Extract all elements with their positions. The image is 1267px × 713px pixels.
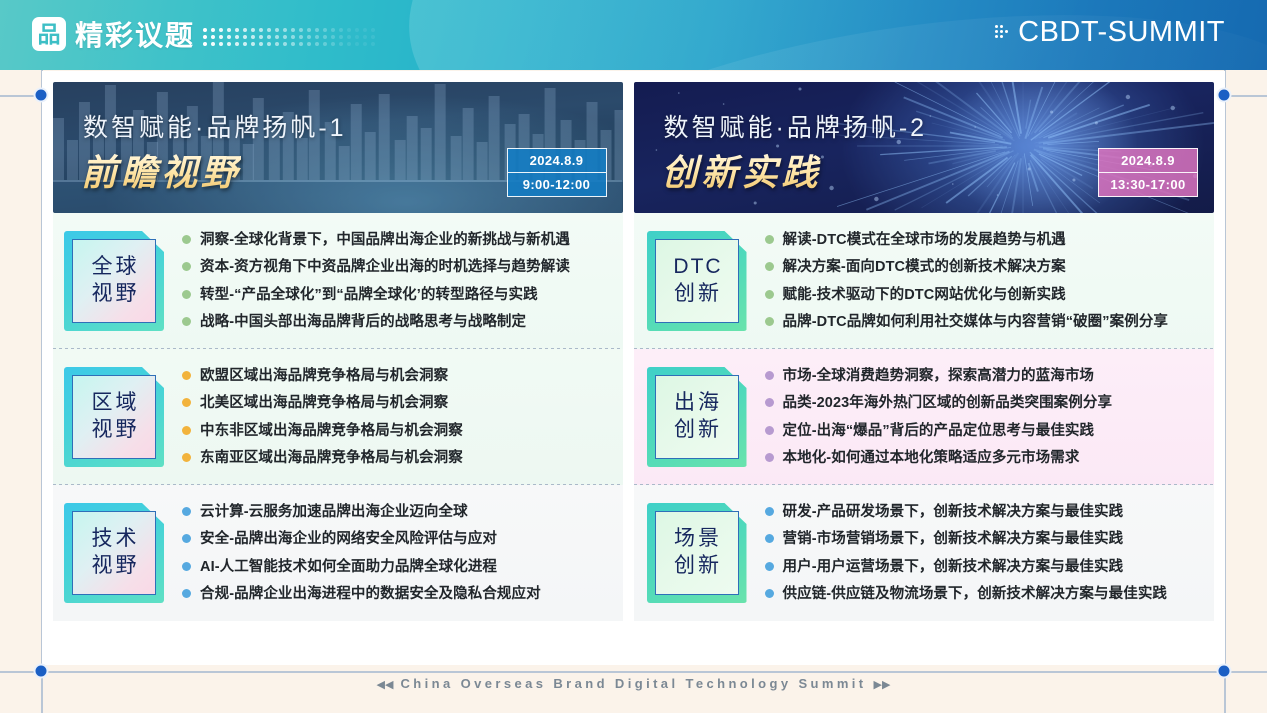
topic-list-item[interactable]: 解决方案-面向DTC模式的创新技术解决方案 bbox=[765, 258, 1205, 276]
topic-category-tile: 全球视野 bbox=[64, 231, 164, 331]
selection-handle-bottom-right[interactable] bbox=[1217, 664, 1232, 679]
topic-label: 东南亚区域出海品牌竞争格局与机会洞察 bbox=[200, 449, 463, 467]
topic-label: 市场-全球消费趋势洞察，探索高潜力的蓝海市场 bbox=[783, 367, 1095, 385]
bullet-icon bbox=[182, 262, 191, 271]
bullet-icon bbox=[182, 507, 191, 516]
topic-list-item[interactable]: 本地化-如何通过本地化策略适应多元市场需求 bbox=[765, 449, 1205, 467]
footer-right-caret-icon: ▶▶ bbox=[874, 679, 891, 691]
tile-inner-panel: 场景创新 bbox=[655, 511, 739, 595]
bullet-icon bbox=[765, 371, 774, 380]
topic-section[interactable]: 区域视野欧盟区域出海品牌竞争格局与机会洞察北美区域出海品牌竞争格局与机会洞察中东… bbox=[53, 349, 623, 485]
topic-list: 洞察-全球化背景下，中国品牌出海企业的新挑战与新机遇资本-资方视角下中资品牌企业… bbox=[182, 231, 623, 331]
bullet-icon bbox=[765, 453, 774, 462]
topic-list-item[interactable]: 战略-中国头部出海品牌背后的战略思考与战略制定 bbox=[182, 313, 613, 331]
tile-label-line2: 视野 bbox=[89, 554, 140, 579]
footer-bar: ◀◀ China Overseas Brand Digital Technolo… bbox=[0, 676, 1267, 691]
tile-inner-panel: DTC创新 bbox=[655, 239, 739, 323]
dot-grid-decoration-icon bbox=[203, 22, 375, 46]
bullet-icon bbox=[182, 371, 191, 380]
tile-label-line1: 出海 bbox=[671, 391, 722, 416]
topic-category-tile: 区域视野 bbox=[64, 367, 164, 467]
topic-list: 云计算-云服务加速品牌出海企业迈向全球安全-品牌出海企业的网络安全风险评估与应对… bbox=[182, 503, 623, 603]
dot-grid-row bbox=[203, 28, 375, 32]
topic-list: 欧盟区域出海品牌竞争格局与机会洞察北美区域出海品牌竞争格局与机会洞察中东非区域出… bbox=[182, 367, 623, 467]
bullet-icon bbox=[765, 398, 774, 407]
topic-list-item[interactable]: 北美区域出海品牌竞争格局与机会洞察 bbox=[182, 394, 613, 412]
topic-list: 解读-DTC模式在全球市场的发展趋势与机遇解决方案-面向DTC模式的创新技术解决… bbox=[765, 231, 1215, 331]
bullet-icon bbox=[765, 262, 774, 271]
bullet-icon bbox=[765, 589, 774, 598]
tile-inner-panel: 技术视野 bbox=[72, 511, 156, 595]
footer-text: China Overseas Brand Digital Technology … bbox=[400, 676, 866, 691]
topic-category-tile: 场景创新 bbox=[647, 503, 747, 603]
topic-list-item[interactable]: 资本-资方视角下中资品牌企业出海的时机选择与趋势解读 bbox=[182, 258, 613, 276]
tile-label-line2: 创新 bbox=[671, 418, 722, 443]
topic-label: 品牌-DTC品牌如何利用社交媒体与内容营销“破圈”案例分享 bbox=[783, 313, 1169, 331]
topic-list-item[interactable]: 品类-2023年海外热门区域的创新品类突围案例分享 bbox=[765, 394, 1205, 412]
topic-list-item[interactable]: 中东非区域出海品牌竞争格局与机会洞察 bbox=[182, 422, 613, 440]
topic-label: 供应链-供应链及物流场景下，创新技术解决方案与最佳实践 bbox=[783, 585, 1168, 603]
bullet-icon bbox=[182, 398, 191, 407]
topic-section[interactable]: 场景创新研发-产品研发场景下，创新技术解决方案与最佳实践营销-市场营销场景下，创… bbox=[634, 485, 1215, 621]
agenda-column-1: 数智赋能·品牌扬帆-1前瞻视野2024.8.99:00-12:00全球视野洞察-… bbox=[42, 71, 634, 665]
bullet-icon bbox=[182, 453, 191, 462]
session-date: 2024.8.9 bbox=[1099, 149, 1197, 173]
bullet-icon bbox=[182, 562, 191, 571]
session-time: 13:30-17:00 bbox=[1099, 173, 1197, 196]
banner-title: 前瞻视野 bbox=[81, 144, 241, 196]
tile-label-line2: 创新 bbox=[671, 554, 722, 579]
tile-inner-panel: 区域视野 bbox=[72, 375, 156, 459]
dotted-arrow-icon bbox=[995, 25, 1008, 41]
topic-list-item[interactable]: 赋能-技术驱动下的DTC网站优化与创新实践 bbox=[765, 286, 1205, 304]
brand-name: CBDT-SUMMIT bbox=[1018, 16, 1225, 49]
bullet-icon bbox=[765, 562, 774, 571]
dot-grid-row bbox=[203, 42, 375, 46]
topic-list-item[interactable]: 洞察-全球化背景下，中国品牌出海企业的新挑战与新机遇 bbox=[182, 231, 613, 249]
topic-list: 研发-产品研发场景下，创新技术解决方案与最佳实践营销-市场营销场景下，创新技术解… bbox=[765, 503, 1215, 603]
topic-label: 中东非区域出海品牌竞争格局与机会洞察 bbox=[200, 422, 463, 440]
topic-label: AI-人工智能技术如何全面助力品牌全球化进程 bbox=[200, 558, 497, 576]
banner-subtitle: 数智赋能·品牌扬帆-1 bbox=[83, 108, 347, 144]
agenda-columns: 数智赋能·品牌扬帆-1前瞻视野2024.8.99:00-12:00全球视野洞察-… bbox=[42, 71, 1225, 665]
topic-list-item[interactable]: 欧盟区域出海品牌竞争格局与机会洞察 bbox=[182, 367, 613, 385]
topic-list-item[interactable]: 品牌-DTC品牌如何利用社交媒体与内容营销“破圈”案例分享 bbox=[765, 313, 1205, 331]
topic-list-item[interactable]: 合规-品牌企业出海进程中的数据安全及隐私合规应对 bbox=[182, 585, 613, 603]
topic-category-tile: 技术视野 bbox=[64, 503, 164, 603]
tile-label-line1: DTC bbox=[670, 255, 722, 280]
topic-label: 欧盟区域出海品牌竞争格局与机会洞察 bbox=[200, 367, 448, 385]
bullet-icon bbox=[182, 235, 191, 244]
selection-handle-top-right[interactable] bbox=[1217, 88, 1232, 103]
brand-logo-group: CBDT-SUMMIT bbox=[995, 16, 1225, 49]
topic-label: 研发-产品研发场景下，创新技术解决方案与最佳实践 bbox=[783, 503, 1124, 521]
topic-list-item[interactable]: 研发-产品研发场景下，创新技术解决方案与最佳实践 bbox=[765, 503, 1205, 521]
session-date-badge: 2024.8.913:30-17:00 bbox=[1098, 148, 1198, 197]
topic-label: 资本-资方视角下中资品牌企业出海的时机选择与趋势解读 bbox=[200, 258, 570, 276]
topic-category-tile: 出海创新 bbox=[647, 367, 747, 467]
topic-label: 北美区域出海品牌竞争格局与机会洞察 bbox=[200, 394, 448, 412]
banner-subtitle: 数智赋能·品牌扬帆-2 bbox=[664, 108, 928, 144]
bullet-icon bbox=[182, 426, 191, 435]
tile-label-line2: 创新 bbox=[671, 282, 722, 307]
dot-grid-row bbox=[203, 35, 375, 39]
bullet-icon bbox=[765, 317, 774, 326]
session-date-badge: 2024.8.99:00-12:00 bbox=[507, 148, 607, 197]
topic-section[interactable]: 全球视野洞察-全球化背景下，中国品牌出海企业的新挑战与新机遇资本-资方视角下中资… bbox=[53, 213, 623, 349]
slide-canvas: 品 精彩议题 CBDT-SUMMIT 数智赋能·品牌扬帆-1前瞻视野2024.8… bbox=[0, 0, 1267, 713]
topic-label: 定位-出海“爆品”背后的产品定位思考与最佳实践 bbox=[783, 422, 1095, 440]
topic-list-item[interactable]: AI-人工智能技术如何全面助力品牌全球化进程 bbox=[182, 558, 613, 576]
banner-title: 创新实践 bbox=[662, 144, 822, 196]
topic-label: 转型-“产品全球化”到“品牌全球化’的转型路径与实践 bbox=[200, 286, 538, 304]
tile-label-line1: 全球 bbox=[89, 255, 140, 280]
slide-content-area: 数智赋能·品牌扬帆-1前瞻视野2024.8.99:00-12:00全球视野洞察-… bbox=[42, 71, 1225, 665]
session-date: 2024.8.9 bbox=[508, 149, 606, 173]
tile-label-line2: 视野 bbox=[89, 282, 140, 307]
topic-label: 解读-DTC模式在全球市场的发展趋势与机遇 bbox=[783, 231, 1066, 249]
topic-list: 市场-全球消费趋势洞察，探索高潜力的蓝海市场品类-2023年海外热门区域的创新品… bbox=[765, 367, 1215, 467]
bullet-icon bbox=[765, 290, 774, 299]
tile-label-line1: 区域 bbox=[89, 391, 140, 416]
bullet-icon bbox=[182, 589, 191, 598]
topic-label: 本地化-如何通过本地化策略适应多元市场需求 bbox=[783, 449, 1080, 467]
topic-section[interactable]: 技术视野云计算-云服务加速品牌出海企业迈向全球安全-品牌出海企业的网络安全风险评… bbox=[53, 485, 623, 621]
topic-label: 品类-2023年海外热门区域的创新品类突围案例分享 bbox=[783, 394, 1113, 412]
tile-label-line1: 技术 bbox=[89, 527, 140, 552]
topic-list-item[interactable]: 定位-出海“爆品”背后的产品定位思考与最佳实践 bbox=[765, 422, 1205, 440]
topic-label: 赋能-技术驱动下的DTC网站优化与创新实践 bbox=[783, 286, 1066, 304]
session-banner-2[interactable]: 数智赋能·品牌扬帆-2创新实践2024.8.913:30-17:00 bbox=[634, 82, 1215, 213]
bullet-icon bbox=[182, 534, 191, 543]
tile-label-line2: 视野 bbox=[89, 418, 140, 443]
topic-label: 用户-用户运营场景下，创新技术解决方案与最佳实践 bbox=[783, 558, 1124, 576]
tile-inner-panel: 出海创新 bbox=[655, 375, 739, 459]
topic-list-item[interactable]: 市场-全球消费趋势洞察，探索高潜力的蓝海市场 bbox=[765, 367, 1205, 385]
session-time: 9:00-12:00 bbox=[508, 173, 606, 196]
topic-label: 营销-市场营销场景下，创新技术解决方案与最佳实践 bbox=[783, 530, 1124, 548]
header-title-group: 品 精彩议题 bbox=[32, 14, 375, 54]
topic-list-item[interactable]: 解读-DTC模式在全球市场的发展趋势与机遇 bbox=[765, 231, 1205, 249]
topic-list-item[interactable]: 转型-“产品全球化”到“品牌全球化’的转型路径与实践 bbox=[182, 286, 613, 304]
bullet-icon bbox=[182, 290, 191, 299]
page-title: 精彩议题 bbox=[75, 14, 195, 54]
topic-section[interactable]: DTC创新解读-DTC模式在全球市场的发展趋势与机遇解决方案-面向DTC模式的创… bbox=[634, 213, 1215, 349]
topic-list-item[interactable]: 供应链-供应链及物流场景下，创新技术解决方案与最佳实践 bbox=[765, 585, 1205, 603]
bullet-icon bbox=[765, 507, 774, 516]
brand-mark-icon: 品 bbox=[32, 17, 66, 51]
topic-section[interactable]: 出海创新市场-全球消费趋势洞察，探索高潜力的蓝海市场品类-2023年海外热门区域… bbox=[634, 349, 1215, 485]
bullet-icon bbox=[182, 317, 191, 326]
topic-label: 合规-品牌企业出海进程中的数据安全及隐私合规应对 bbox=[200, 585, 541, 603]
footer-left-caret-icon: ◀◀ bbox=[377, 679, 394, 691]
bullet-icon bbox=[765, 235, 774, 244]
agenda-column-2: 数智赋能·品牌扬帆-2创新实践2024.8.913:30-17:00DTC创新解… bbox=[634, 71, 1226, 665]
topic-label: 战略-中国头部出海品牌背后的战略思考与战略制定 bbox=[200, 313, 526, 331]
bullet-icon bbox=[765, 534, 774, 543]
topic-list-item[interactable]: 云计算-云服务加速品牌出海企业迈向全球 bbox=[182, 503, 613, 521]
bullet-icon bbox=[765, 426, 774, 435]
selection-handle-top-left[interactable] bbox=[34, 88, 49, 103]
topic-label: 云计算-云服务加速品牌出海企业迈向全球 bbox=[200, 503, 468, 521]
topic-list-item[interactable]: 安全-品牌出海企业的网络安全风险评估与应对 bbox=[182, 530, 613, 548]
topic-category-tile: DTC创新 bbox=[647, 231, 747, 331]
page-header: 品 精彩议题 CBDT-SUMMIT bbox=[0, 0, 1267, 70]
tile-label-line1: 场景 bbox=[671, 527, 722, 552]
session-banner-1[interactable]: 数智赋能·品牌扬帆-1前瞻视野2024.8.99:00-12:00 bbox=[53, 82, 623, 213]
topic-list-item[interactable]: 营销-市场营销场景下，创新技术解决方案与最佳实践 bbox=[765, 530, 1205, 548]
guide-line-horizontal-bottom bbox=[0, 671, 1267, 673]
topic-label: 洞察-全球化背景下，中国品牌出海企业的新挑战与新机遇 bbox=[200, 231, 570, 249]
topic-list-item[interactable]: 用户-用户运营场景下，创新技术解决方案与最佳实践 bbox=[765, 558, 1205, 576]
tile-inner-panel: 全球视野 bbox=[72, 239, 156, 323]
topic-list-item[interactable]: 东南亚区域出海品牌竞争格局与机会洞察 bbox=[182, 449, 613, 467]
topic-label: 解决方案-面向DTC模式的创新技术解决方案 bbox=[783, 258, 1066, 276]
topic-label: 安全-品牌出海企业的网络安全风险评估与应对 bbox=[200, 530, 497, 548]
selection-handle-bottom-left[interactable] bbox=[34, 664, 49, 679]
